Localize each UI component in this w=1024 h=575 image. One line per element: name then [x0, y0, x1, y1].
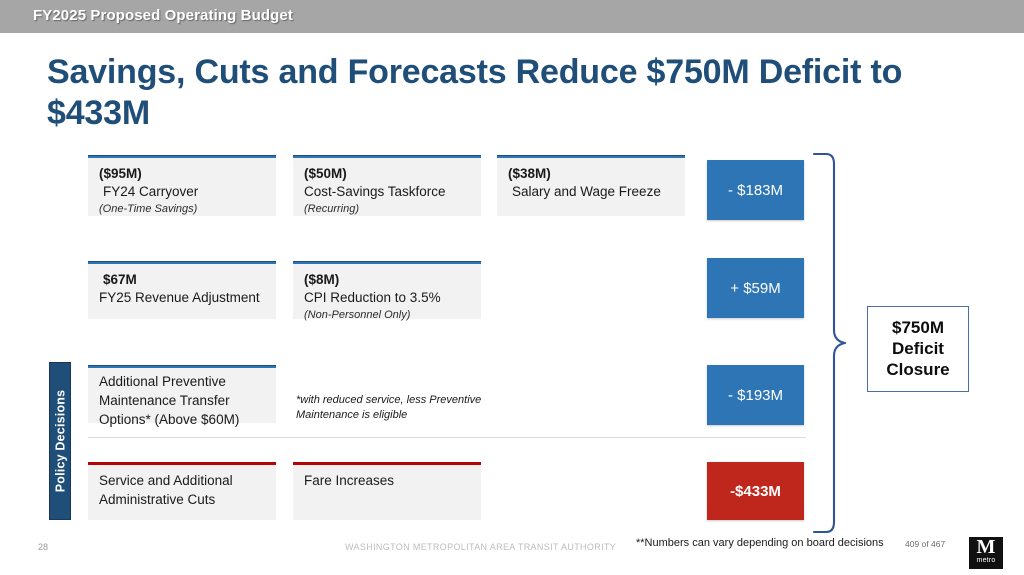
result-chip-row4: -$433M	[707, 462, 804, 520]
card-accent-blue-icon	[88, 155, 276, 158]
deficit-closure-box: $750M Deficit Closure	[867, 306, 969, 392]
card-label: Service and Additional Administrative Cu…	[99, 472, 266, 510]
card-row3-col1: Additional Preventive Maintenance Transf…	[88, 365, 276, 423]
card-accent-blue-icon	[88, 365, 276, 368]
card-row1-col1: ($95M) FY24 Carryover (One-Time Savings)	[88, 155, 276, 216]
card-label: FY24 Carryover	[99, 183, 266, 202]
card-subtext: (Non-Personnel Only)	[304, 308, 471, 323]
card-label: Fare Increases	[304, 472, 471, 491]
card-row2-col2: ($8M) CPI Reduction to 3.5% (Non-Personn…	[293, 261, 481, 319]
card-row4-col2: Fare Increases	[293, 462, 481, 520]
card-accent-blue-icon	[293, 155, 481, 158]
card-accent-red-icon	[293, 462, 481, 465]
policy-decisions-rail: Policy Decisions	[49, 362, 71, 520]
result-chip-value: - $193M	[728, 387, 783, 404]
card-amount: $67M	[99, 270, 266, 289]
slide-counter: 409 of 467	[905, 539, 945, 549]
card-subtext: (One-Time Savings)	[99, 202, 266, 217]
card-accent-blue-icon	[497, 155, 685, 158]
card-label: CPI Reduction to 3.5%	[304, 289, 471, 308]
preventive-maintenance-note: *with reduced service, less Preventive M…	[296, 393, 511, 423]
budget-board: ($95M) FY24 Carryover (One-Time Savings)…	[0, 0, 1024, 575]
result-chip-value: -$433M	[730, 483, 781, 500]
card-accent-red-icon	[88, 462, 276, 465]
result-chip-row1: - $183M	[707, 160, 804, 220]
card-row1-col3: ($38M) Salary and Wage Freeze	[497, 155, 685, 216]
policy-decisions-label: Policy Decisions	[53, 390, 67, 493]
result-chip-row2: + $59M	[707, 258, 804, 318]
footnote: **Numbers can vary depending on board de…	[636, 537, 884, 549]
result-chip-row3: - $193M	[707, 365, 804, 425]
result-chip-value: - $183M	[728, 182, 783, 199]
result-chip-value: + $59M	[730, 280, 780, 297]
card-accent-blue-icon	[293, 261, 481, 264]
metro-logo-mark: M	[977, 538, 996, 557]
card-subtext: (Recurring)	[304, 202, 471, 217]
card-amount: ($50M)	[304, 164, 471, 183]
closure-line-1: $750M	[892, 318, 944, 338]
row-divider	[88, 437, 806, 438]
card-label: Cost-Savings Taskforce	[304, 183, 471, 202]
metro-logo-icon: M metro	[969, 537, 1003, 569]
card-label: Salary and Wage Freeze	[508, 183, 675, 202]
card-label: FY25 Revenue Adjustment	[99, 289, 266, 308]
card-accent-blue-icon	[88, 261, 276, 264]
metro-logo-word: metro	[976, 557, 997, 565]
card-amount: ($38M)	[508, 164, 675, 183]
closure-line-2: Deficit	[892, 339, 944, 359]
card-row2-col1: $67M FY25 Revenue Adjustment	[88, 261, 276, 319]
footer-organization: WASHINGTON METROPOLITAN AREA TRANSIT AUT…	[345, 542, 616, 552]
card-row1-col2: ($50M) Cost-Savings Taskforce (Recurring…	[293, 155, 481, 216]
summary-brace-icon	[812, 152, 850, 534]
card-label: Additional Preventive Maintenance Transf…	[99, 373, 266, 430]
card-row4-col1: Service and Additional Administrative Cu…	[88, 462, 276, 520]
card-amount: ($8M)	[304, 270, 471, 289]
card-amount: ($95M)	[99, 164, 266, 183]
page-number: 28	[38, 542, 48, 552]
closure-line-3: Closure	[886, 360, 949, 380]
